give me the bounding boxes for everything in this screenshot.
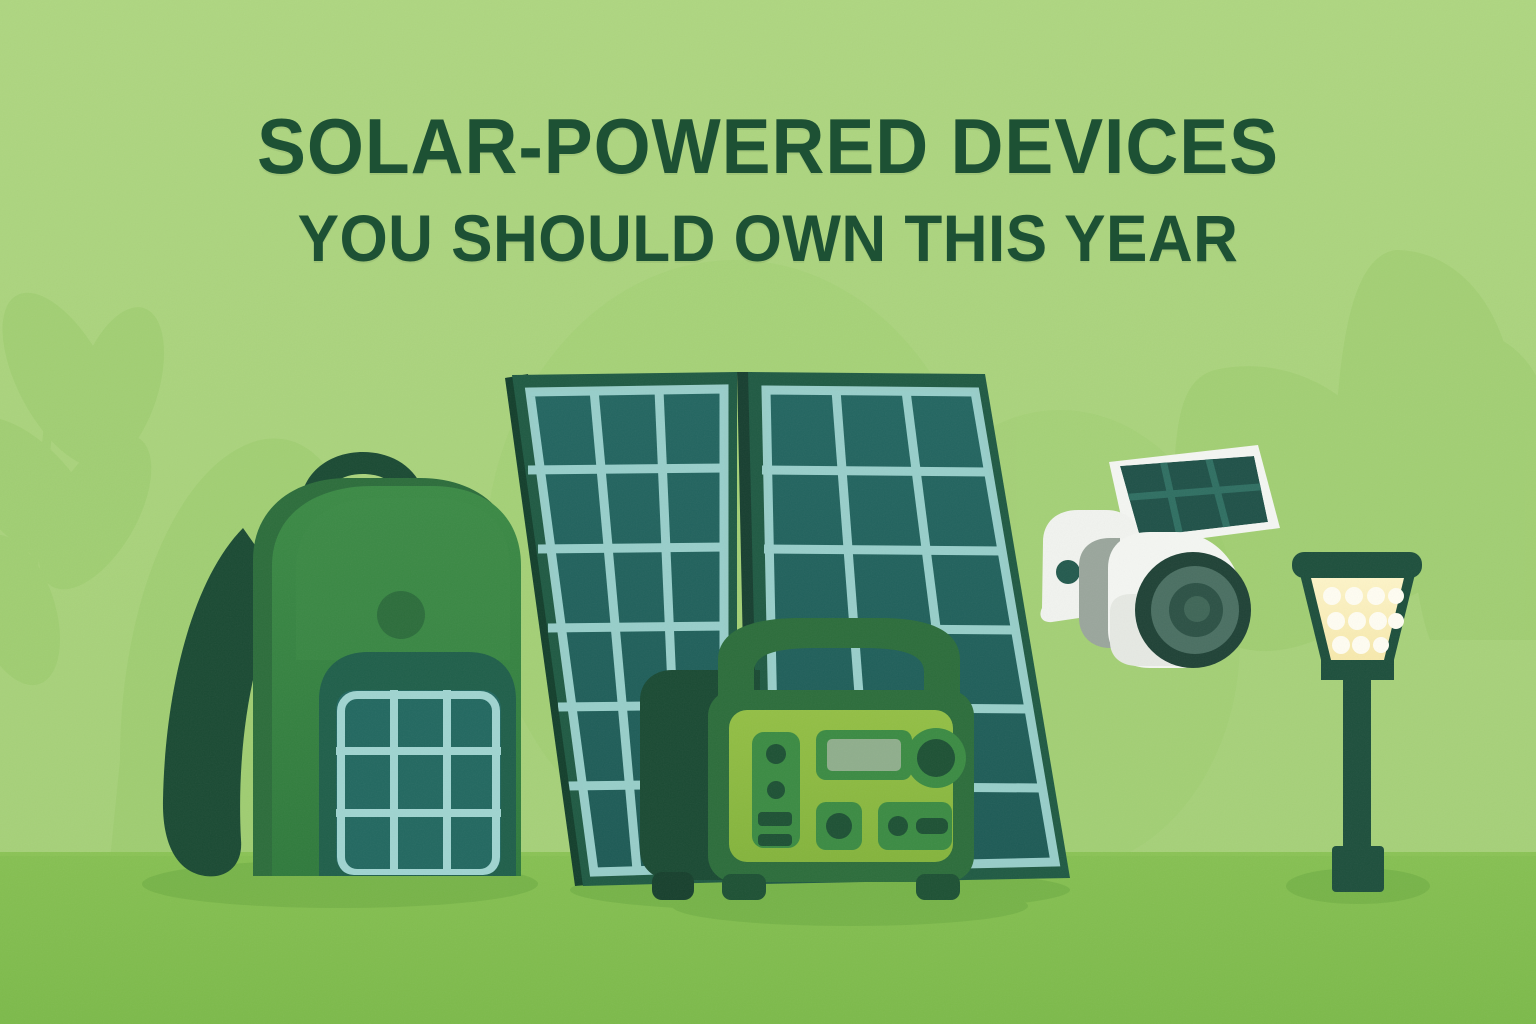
paper-grain-overlay (0, 0, 1536, 1024)
illustration-svg (0, 0, 1536, 1024)
poster-canvas: Solar-Powered Devices You Should Own Thi… (0, 0, 1536, 1024)
